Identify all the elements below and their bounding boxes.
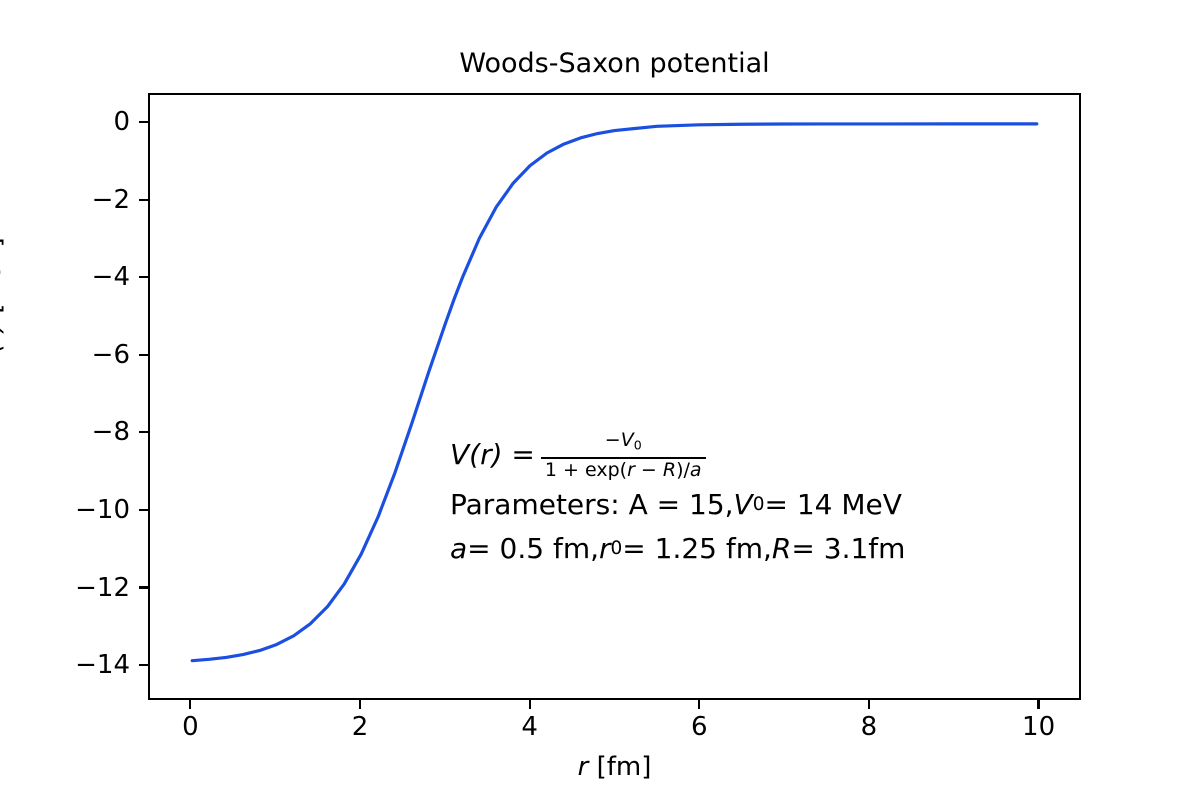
page-title: Woods-Saxon potential <box>148 48 1081 80</box>
equation-fraction: −V0 1 + exp(r − R)/a <box>541 430 706 480</box>
param-R-value: = 3.1fm <box>791 535 905 563</box>
y-tick-label: −10 <box>0 497 130 523</box>
y-tick-label: −2 <box>0 187 130 213</box>
x-tick-mark <box>868 700 870 709</box>
annotation-block: V(r) = −V0 1 + exp(r − R)/a Parameters: … <box>450 427 905 571</box>
y-tick-label: 0 <box>0 109 130 135</box>
y-tick-mark <box>139 199 148 201</box>
x-axis-label-italic: r <box>578 752 589 782</box>
param-a: a <box>450 535 467 563</box>
woods-saxon-curve <box>192 124 1037 661</box>
numerator-var: V <box>621 429 634 451</box>
x-tick-mark <box>189 700 191 709</box>
equation-lhs: V(r) = <box>450 441 535 469</box>
x-tick-mark <box>359 700 361 709</box>
x-tick-label: 4 <box>470 714 590 740</box>
denominator-R: R <box>663 459 676 481</box>
y-tick-label: −6 <box>0 342 130 368</box>
equation-numerator: −V0 <box>599 430 648 457</box>
param-a-value: = 0.5 fm, <box>467 535 599 563</box>
y-tick-label: −12 <box>0 575 130 601</box>
y-tick-mark <box>139 121 148 123</box>
param-V-value: = 14 MeV <box>764 491 901 519</box>
denominator-r: r <box>627 459 635 481</box>
y-tick-mark <box>139 664 148 666</box>
denominator-suffix: )/ <box>676 459 690 481</box>
param-prefix: Parameters: A = 15, <box>450 491 734 519</box>
x-tick-label: 2 <box>300 714 420 740</box>
x-axis-label-unit: [fm] <box>588 752 651 782</box>
denominator-minus: − <box>635 459 663 481</box>
y-tick-label: −8 <box>0 419 130 445</box>
y-tick-mark <box>139 276 148 278</box>
x-tick-mark <box>1037 700 1039 709</box>
numerator-subscript: 0 <box>634 438 642 453</box>
x-tick-label: 10 <box>979 714 1099 740</box>
y-tick-mark <box>139 354 148 356</box>
matplotlib-figure: Woods-Saxon potential V(r) [MeV] r [fm] … <box>0 0 1200 799</box>
y-tick-label: −4 <box>0 264 130 290</box>
equation-denominator: 1 + exp(r − R)/a <box>541 459 706 480</box>
param-r0-subscript: 0 <box>611 540 623 558</box>
x-tick-label: 0 <box>130 714 250 740</box>
woods-saxon-curve-svg <box>150 95 1079 698</box>
x-tick-mark <box>698 700 700 709</box>
x-tick-label: 8 <box>809 714 929 740</box>
annotation-parameters-line-1: Parameters: A = 15, V0 = 14 MeV <box>450 483 905 527</box>
param-V: V <box>734 491 753 519</box>
y-tick-label: −14 <box>0 652 130 678</box>
y-tick-mark <box>139 586 148 588</box>
equation-lhs-italic: V(r) <box>450 438 503 471</box>
denominator-a: a <box>690 459 702 481</box>
annotation-equation: V(r) = −V0 1 + exp(r − R)/a <box>450 427 905 483</box>
y-tick-mark <box>139 431 148 433</box>
x-tick-label: 6 <box>639 714 759 740</box>
equation-equals: = <box>503 438 535 471</box>
x-tick-mark <box>529 700 531 709</box>
param-r0: r <box>599 535 611 563</box>
param-R: R <box>772 535 791 563</box>
x-axis-label: r [fm] <box>148 752 1081 782</box>
plot-area: V(r) = −V0 1 + exp(r − R)/a Parameters: … <box>148 93 1081 700</box>
param-V-subscript: 0 <box>753 496 765 514</box>
y-tick-mark <box>139 509 148 511</box>
denominator-prefix: 1 + exp( <box>545 459 627 481</box>
param-r0-value: = 1.25 fm, <box>622 535 772 563</box>
annotation-parameters-line-2: a = 0.5 fm, r0 = 1.25 fm, R = 3.1fm <box>450 527 905 571</box>
numerator-minus: − <box>605 429 621 451</box>
